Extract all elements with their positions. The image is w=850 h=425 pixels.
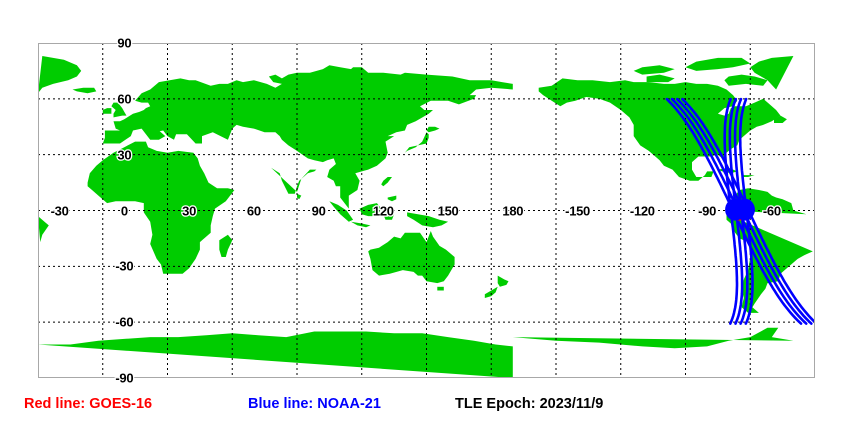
lon-tick-label-neg60: -60 (763, 203, 781, 218)
lat-tick-label-90: 90 (117, 36, 131, 51)
lat-tick-label-60: 60 (117, 91, 131, 106)
legend-tle-epoch: TLE Epoch: 2023/11/9 (455, 396, 603, 412)
lon-tick-label-150: 150 (438, 203, 459, 218)
lat-tick-label-0: 0 (121, 203, 128, 218)
lon-tick-label-neg120: -120 (630, 203, 655, 218)
lon-tick-label-neg30: -30 (51, 203, 69, 218)
lon-tick-label-90: 90 (312, 203, 326, 218)
legend-noaa21: Blue line: NOAA-21 (248, 396, 381, 412)
lat-tick-label-neg30: -30 (115, 259, 133, 274)
legend-goes16: Red line: GOES-16 (24, 396, 152, 412)
lat-tick-label-neg90: -90 (115, 371, 133, 386)
lon-tick-label-180: 180 (502, 203, 523, 218)
lon-tick-label-30: 30 (182, 203, 196, 218)
lon-tick-label-120: 120 (373, 203, 394, 218)
lon-tick-label-neg90: -90 (698, 203, 716, 218)
satellite-markers (725, 199, 755, 221)
satellite-ground-track-map: -300306090120150180-150-120-90-609060300… (0, 0, 850, 425)
lat-tick-label-neg60: -60 (115, 315, 133, 330)
lon-tick-label-neg150: -150 (565, 203, 590, 218)
lat-tick-label-30: 30 (117, 147, 131, 162)
lon-tick-label-60: 60 (247, 203, 261, 218)
